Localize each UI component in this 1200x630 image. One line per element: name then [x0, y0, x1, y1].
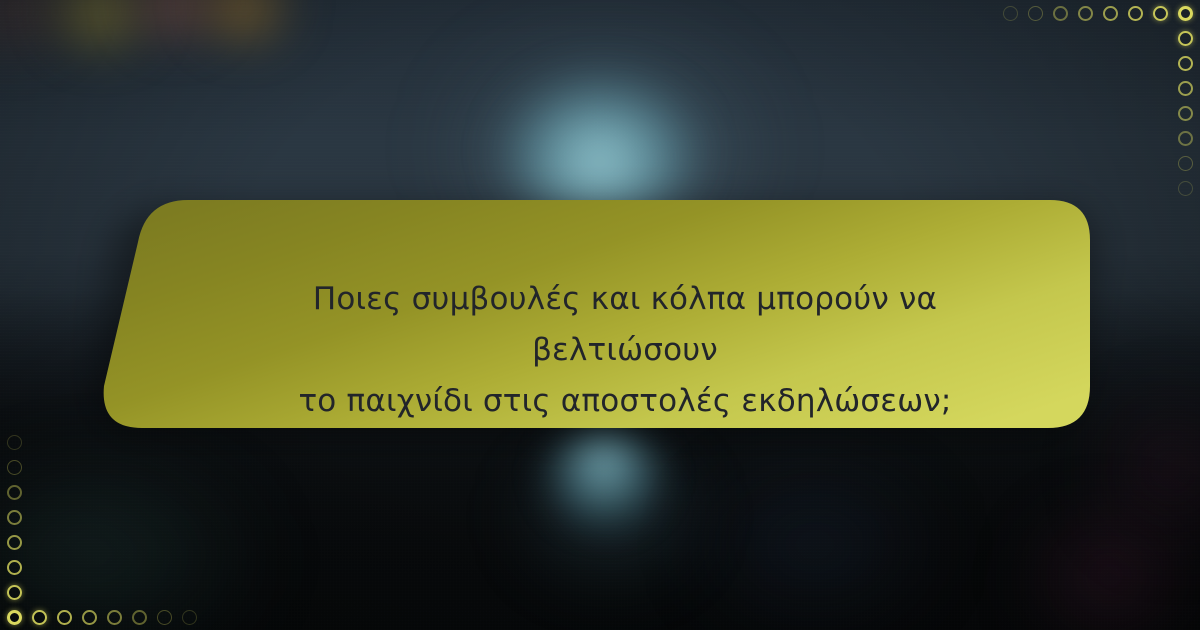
decor-dot	[1103, 6, 1118, 21]
decor-dot	[1053, 6, 1068, 21]
decor-dot	[1003, 6, 1018, 21]
decor-dot	[7, 510, 22, 525]
decor-dot	[132, 610, 147, 625]
decor-dot	[7, 560, 22, 575]
decor-dot	[7, 460, 22, 475]
decor-dot	[1078, 6, 1093, 21]
decor-dot	[1178, 56, 1193, 71]
question-text: Ποιες συμβουλές και κόλπα μπορούν να βελ…	[240, 274, 1010, 427]
decor-dot	[1178, 106, 1193, 121]
decor-dot	[107, 610, 122, 625]
decor-dot	[1178, 6, 1193, 21]
decor-dot	[7, 610, 22, 625]
decor-dot	[1178, 81, 1193, 96]
decor-dot	[182, 610, 197, 625]
decor-dot	[82, 610, 97, 625]
decor-dot	[1028, 6, 1043, 21]
decor-dot	[7, 435, 22, 450]
decor-dot	[57, 610, 72, 625]
decor-dot	[1153, 6, 1168, 21]
decor-dot	[7, 535, 22, 550]
decor-dot	[1178, 31, 1193, 46]
decor-dot	[7, 485, 22, 500]
question-banner: Ποιες συμβουλές και κόλπα μπορούν να βελ…	[90, 196, 1100, 432]
share-card: Ποιες συμβουλές και κόλπα μπορούν να βελ…	[0, 0, 1200, 630]
decor-dot	[157, 610, 172, 625]
decor-dot	[32, 610, 47, 625]
decor-dot	[1178, 181, 1193, 196]
decor-dot	[7, 585, 22, 600]
decor-dot	[1178, 156, 1193, 171]
decor-dot	[1178, 131, 1193, 146]
decor-dot	[1128, 6, 1143, 21]
